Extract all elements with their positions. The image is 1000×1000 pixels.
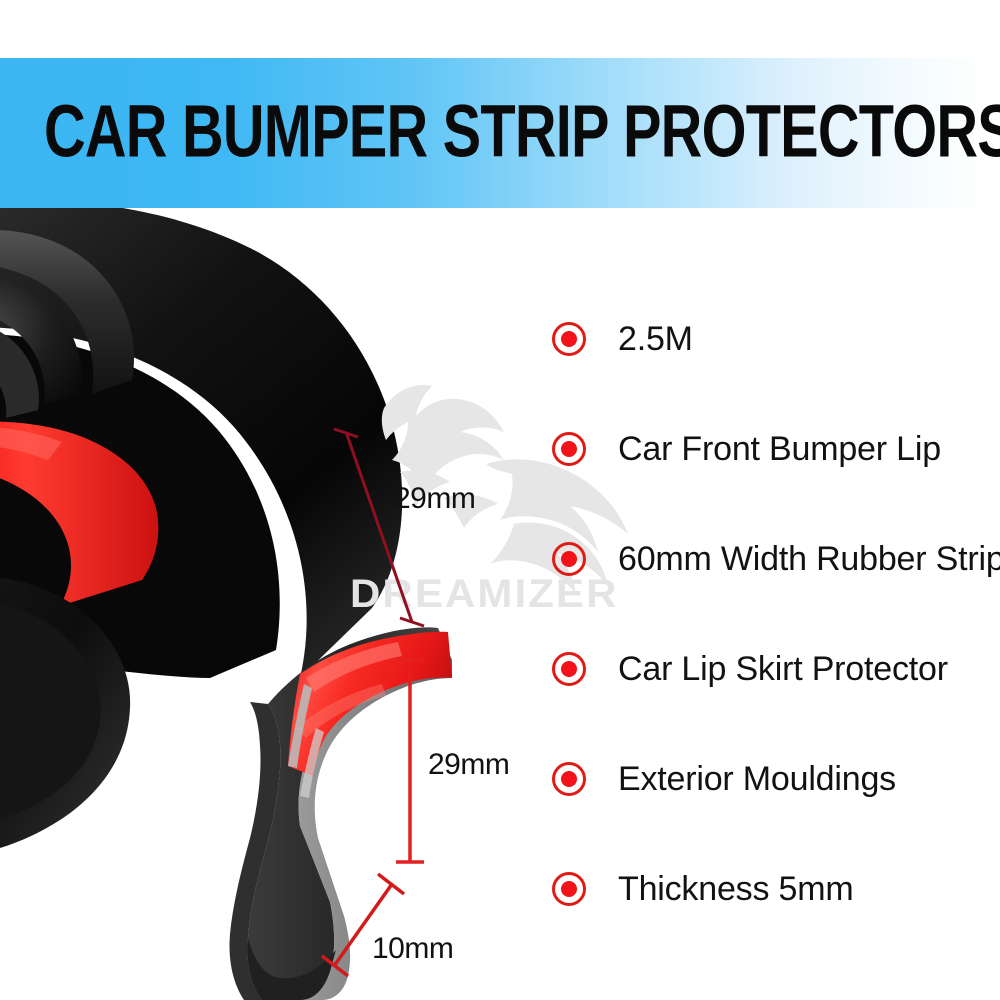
feature-item-6: Thickness 5mm (552, 834, 1000, 944)
dimension-label-10mm: 10mm (372, 932, 453, 966)
feature-item-2: Car Front Bumper Lip (552, 394, 1000, 504)
feature-item-3: 60mm Width Rubber Strip (552, 504, 1000, 614)
feature-label: Car Front Bumper Lip (618, 430, 941, 469)
feature-item-5: Exterior Mouldings (552, 724, 1000, 834)
infographic-page: CAR BUMPER STRIP PROTECTORS SIZE (0, 0, 1000, 1000)
target-bullet-icon (552, 432, 586, 466)
target-bullet-icon (552, 762, 586, 796)
feature-item-1: 2.5M (552, 284, 1000, 394)
feature-label: 2.5M (618, 320, 693, 359)
feature-label: Exterior Mouldings (618, 760, 896, 799)
target-bullet-icon (552, 542, 586, 576)
feature-label: 60mm Width Rubber Strip (618, 540, 1000, 579)
header-banner: CAR BUMPER STRIP PROTECTORS SIZE (0, 58, 1000, 208)
target-bullet-icon (552, 652, 586, 686)
product-photo (0, 208, 540, 1000)
feature-list: 2.5M Car Front Bumper Lip 60mm Width Rub… (552, 284, 1000, 944)
feature-label: Thickness 5mm (618, 870, 853, 909)
dimension-label-upper-29mm: 29mm (394, 482, 475, 516)
product-photo-illustration (0, 208, 540, 1000)
feature-item-4: Car Lip Skirt Protector (552, 614, 1000, 724)
target-bullet-icon (552, 872, 586, 906)
feature-label: Car Lip Skirt Protector (618, 650, 948, 689)
page-title: CAR BUMPER STRIP PROTECTORS SIZE (44, 95, 1000, 169)
dimension-label-lower-29mm: 29mm (428, 748, 509, 782)
target-bullet-icon (552, 322, 586, 356)
